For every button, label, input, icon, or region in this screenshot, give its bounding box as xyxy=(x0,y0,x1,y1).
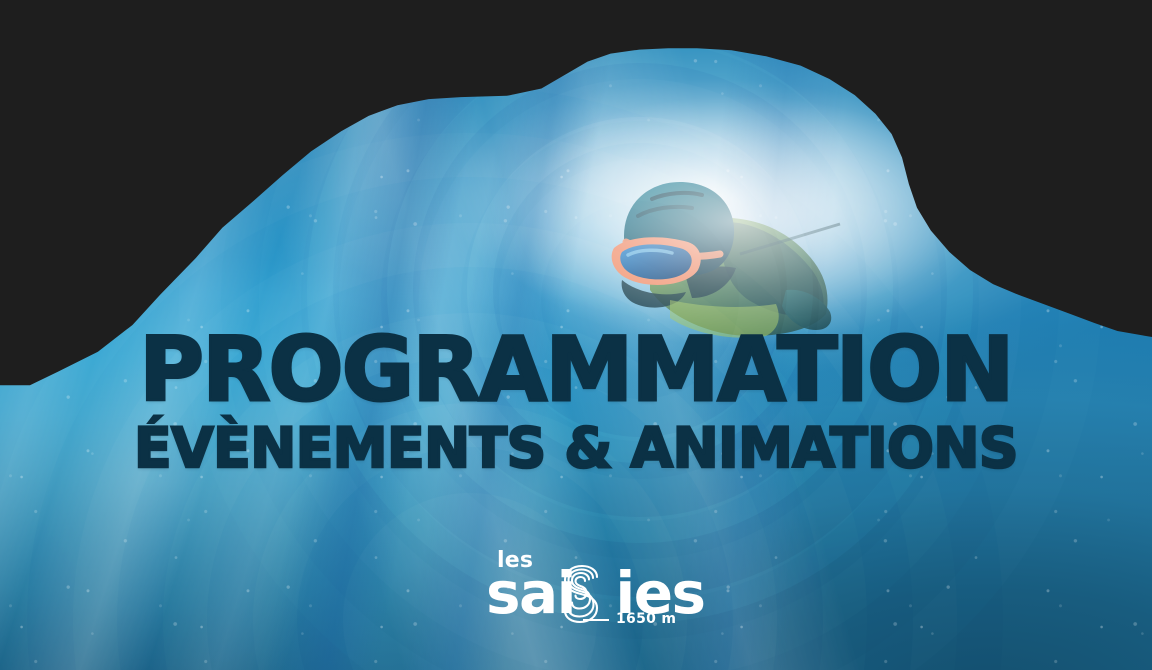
spiral-s-icon xyxy=(553,563,609,625)
brand-logo[interactable]: les saiSies 1650 m xyxy=(461,548,691,640)
poster: PROGRAMMATION ÉVÈNEMENTS & ANIMATIONS le… xyxy=(0,0,1152,670)
logo-divider-rule xyxy=(583,619,609,621)
logo-altitude: 1650 m xyxy=(616,611,676,627)
